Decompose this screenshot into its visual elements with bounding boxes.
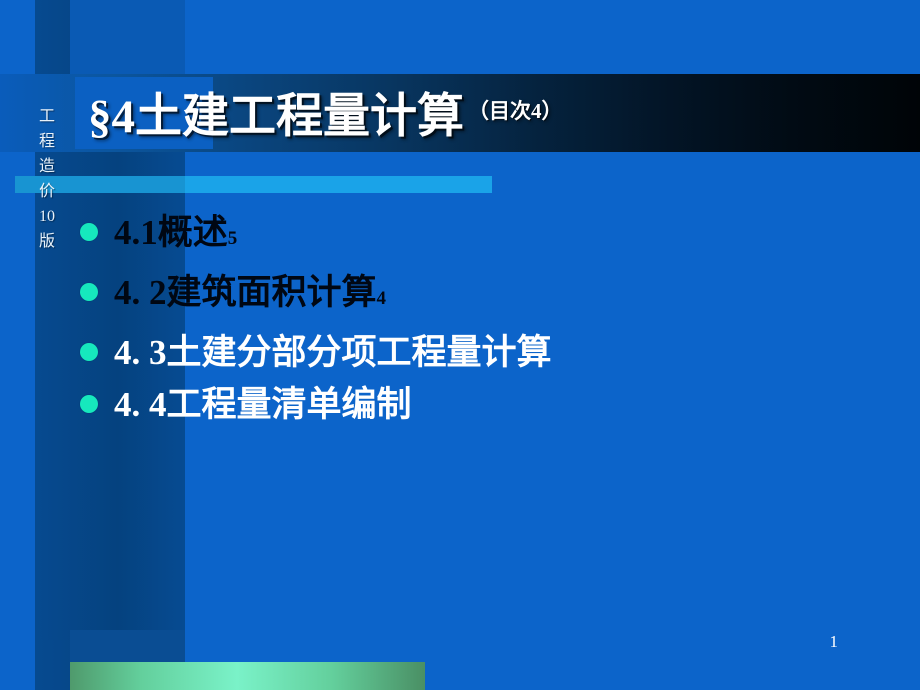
list-item-superscript: 5 [228,228,238,249]
list-item-label: 4.1概述5 [114,215,237,250]
sidebar-char-6: 版 [39,229,55,254]
slide-title-main: §4土建工程量计算 [88,77,464,146]
bottom-green-bar [70,662,425,690]
slide-title-suffix: （目次4） [468,95,563,127]
top-left-accent-block [70,0,185,74]
page-number: 1 [830,632,839,652]
list-item[interactable]: 4. 4工程量清单编制 [80,378,880,430]
sidebar-char-2: 程 [39,129,55,154]
bullet-dot-icon [80,343,98,361]
list-item-text: 4.1概述 [114,213,228,252]
list-item-superscript: 4 [377,288,387,309]
list-item-text: 4. 2建筑面积计算 [114,273,377,312]
bullet-dot-icon [80,283,98,301]
sidebar-char-5: 10 [39,204,55,229]
list-item[interactable]: 4.1概述5 [80,206,880,258]
slide-title: §4土建工程量计算 （目次4） [88,76,563,146]
sidebar-char-1: 工 [39,104,55,129]
list-item-label: 4. 2建筑面积计算4 [114,275,386,310]
sidebar-vertical-label: 工 程 造 价 10 版 [30,104,64,254]
sidebar-char-4: 价 [39,179,55,204]
sidebar-char-3: 造 [39,154,55,179]
list-item-label: 4. 4工程量清单编制 [114,387,412,422]
slide-canvas: §4土建工程量计算 （目次4） 工 程 造 价 10 版 4.1概述5 4. 2… [0,0,920,690]
list-item[interactable]: 4. 2建筑面积计算4 [80,266,880,318]
bullet-list: 4.1概述5 4. 2建筑面积计算4 4. 3土建分部分项工程量计算 4. 4工… [80,206,880,430]
bullet-dot-icon [80,395,98,413]
list-item-label: 4. 3土建分部分项工程量计算 [114,335,552,370]
bullet-dot-icon [80,223,98,241]
list-item-text: 4. 4工程量清单编制 [114,385,412,424]
list-item-text: 4. 3土建分部分项工程量计算 [114,333,552,372]
list-item[interactable]: 4. 3土建分部分项工程量计算 [80,326,880,378]
